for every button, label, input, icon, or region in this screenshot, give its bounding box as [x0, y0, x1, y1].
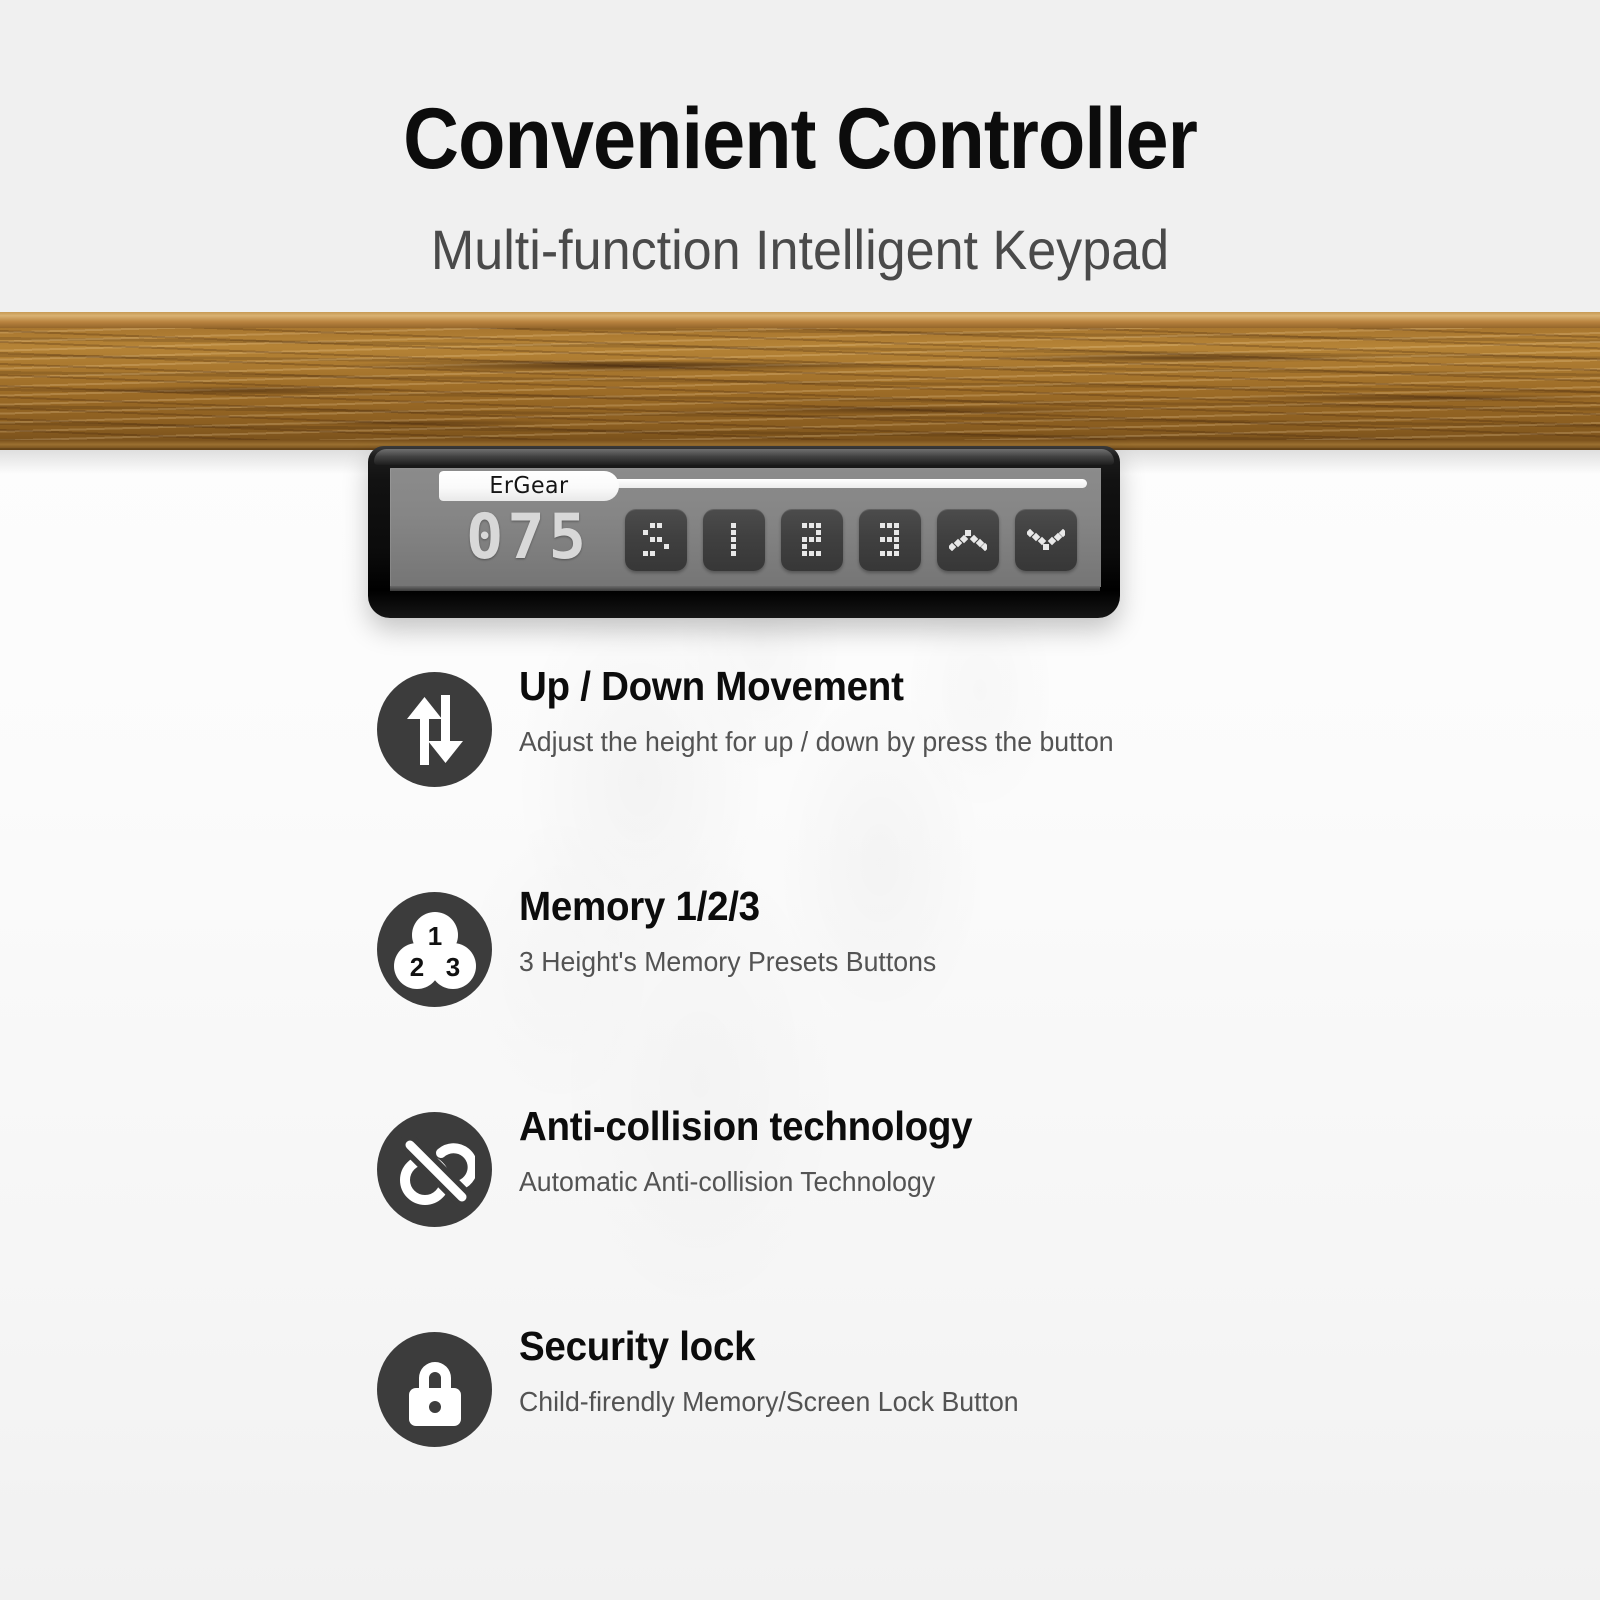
memory-presets-icon: 1 2 3	[377, 892, 492, 1007]
desk-controller-keypad[interactable]: ErGear 075	[368, 446, 1120, 618]
feature-memory-presets: 1 2 3 Memory 1/2/3 3 Height's Memory Pre…	[0, 892, 1600, 1112]
controller-top-gloss	[374, 449, 1114, 465]
anti-collision-icon	[377, 1112, 492, 1227]
padlock-glyph	[401, 1352, 469, 1428]
page-title: Convenient Controller	[80, 96, 1520, 182]
feature-subtext: 3 Height's Memory Presets Buttons	[519, 947, 1489, 977]
feature-heading: Security lock	[519, 1324, 1459, 1368]
preset-label-1: 1	[427, 921, 441, 951]
feature-text-block: Memory 1/2/3 3 Height's Memory Presets B…	[519, 884, 1519, 978]
page-subtitle: Multi-function Intelligent Keypad	[56, 222, 1544, 278]
digit-2-dot-glyph	[802, 523, 822, 557]
brand-logo-plate: ErGear	[439, 471, 619, 501]
feature-text-block: Up / Down Movement Adjust the height for…	[519, 664, 1519, 758]
preset-label-2: 2	[409, 952, 423, 982]
memory-3-key[interactable]	[859, 509, 921, 571]
feature-text-block: Anti-collision technology Automatic Anti…	[519, 1104, 1519, 1198]
three-memory-circles-glyph: 1 2 3	[394, 911, 476, 989]
desk-grain-streaks	[0, 328, 1600, 442]
down-key[interactable]	[1015, 509, 1077, 571]
up-key[interactable]	[937, 509, 999, 571]
chevron-up-dot-icon	[949, 529, 987, 551]
digit-3-dot-glyph	[880, 523, 900, 557]
keypad-row	[625, 509, 1085, 571]
feature-anti-collision: Anti-collision technology Automatic Anti…	[0, 1112, 1600, 1332]
feature-security-lock: Security lock Child-firendly Memory/Scre…	[0, 1332, 1600, 1552]
feature-subtext: Child-firendly Memory/Screen Lock Button	[519, 1387, 1489, 1417]
slashed-link-glyph	[395, 1130, 475, 1210]
feature-heading: Anti-collision technology	[519, 1104, 1459, 1148]
letter-s-dot-glyph	[643, 523, 669, 557]
desk-top	[0, 312, 1600, 450]
ergear-logo: ErGear	[443, 471, 616, 501]
memory-2-key[interactable]	[781, 509, 843, 571]
panel-bottom-edge	[390, 586, 1100, 591]
up-down-arrows-icon	[377, 672, 492, 787]
digit-1-dot-glyph	[731, 523, 737, 557]
feature-list: Up / Down Movement Adjust the height for…	[0, 672, 1600, 1552]
desk-edge-highlight	[0, 312, 1600, 329]
preset-label-3: 3	[445, 952, 459, 982]
feature-text-block: Security lock Child-firendly Memory/Scre…	[519, 1324, 1519, 1418]
height-display: 075	[443, 505, 613, 569]
memory-1-key[interactable]	[703, 509, 765, 571]
feature-heading: Up / Down Movement	[519, 664, 1459, 708]
feature-up-down-movement: Up / Down Movement Adjust the height for…	[0, 672, 1600, 892]
chevron-down-dot-icon	[1027, 529, 1065, 551]
memory-set-key[interactable]	[625, 509, 687, 571]
feature-subtext: Adjust the height for up / down by press…	[519, 727, 1489, 757]
up-down-arrows-glyph	[403, 695, 467, 765]
feature-subtext: Automatic Anti-collision Technology	[519, 1167, 1489, 1197]
header: Convenient Controller Multi-function Int…	[0, 0, 1600, 278]
security-lock-icon	[377, 1332, 492, 1447]
controller-panel: ErGear 075	[390, 468, 1101, 587]
feature-heading: Memory 1/2/3	[519, 884, 1459, 928]
